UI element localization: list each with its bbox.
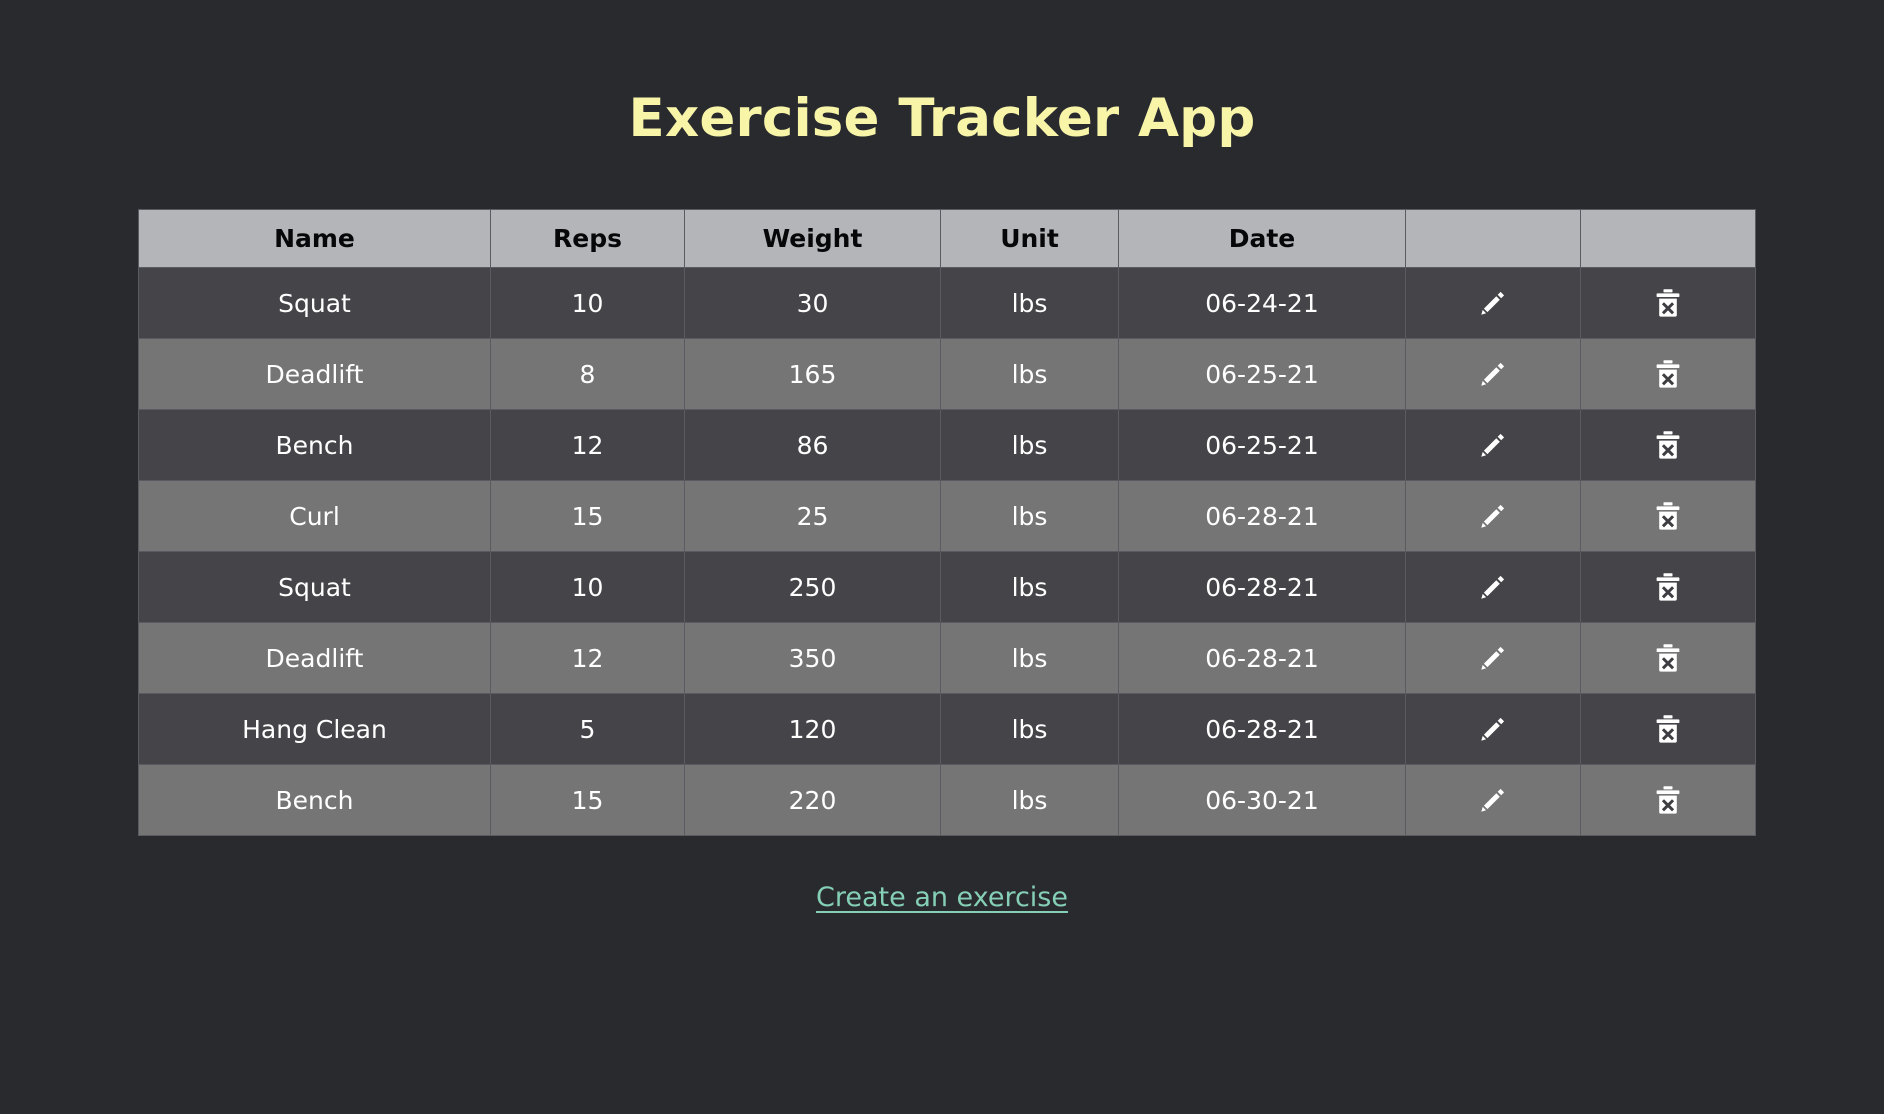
- table-row[interactable]: Squat 10 30 lbs 06-24-21: [139, 268, 1756, 339]
- pencil-icon[interactable]: [1476, 499, 1510, 533]
- exercise-table-container: Name Reps Weight Unit Date Squat 10 30 l…: [138, 209, 1755, 836]
- exercise-table: Name Reps Weight Unit Date Squat 10 30 l…: [138, 209, 1756, 836]
- footer-actions: Create an exercise: [0, 882, 1884, 913]
- column-header-delete: [1581, 210, 1756, 268]
- table-header-row: Name Reps Weight Unit Date: [139, 210, 1756, 268]
- column-header-date[interactable]: Date: [1119, 210, 1406, 268]
- pencil-icon[interactable]: [1476, 286, 1510, 320]
- trash-x-icon[interactable]: [1651, 286, 1685, 320]
- pencil-icon[interactable]: [1476, 570, 1510, 604]
- cell-date: 06-28-21: [1119, 552, 1406, 623]
- table-body: Squat 10 30 lbs 06-24-21: [139, 268, 1756, 836]
- cell-edit[interactable]: [1406, 268, 1581, 339]
- cell-unit: lbs: [941, 481, 1119, 552]
- cell-name: Bench: [139, 765, 491, 836]
- cell-weight: 86: [685, 410, 941, 481]
- cell-delete[interactable]: [1581, 694, 1756, 765]
- cell-edit[interactable]: [1406, 552, 1581, 623]
- cell-date: 06-25-21: [1119, 339, 1406, 410]
- cell-weight: 30: [685, 268, 941, 339]
- cell-delete[interactable]: [1581, 268, 1756, 339]
- cell-edit[interactable]: [1406, 481, 1581, 552]
- table-row[interactable]: Bench 12 86 lbs 06-25-21: [139, 410, 1756, 481]
- cell-weight: 25: [685, 481, 941, 552]
- cell-date: 06-28-21: [1119, 623, 1406, 694]
- cell-unit: lbs: [941, 268, 1119, 339]
- cell-reps: 8: [491, 339, 685, 410]
- cell-weight: 120: [685, 694, 941, 765]
- cell-delete[interactable]: [1581, 481, 1756, 552]
- cell-delete[interactable]: [1581, 410, 1756, 481]
- cell-date: 06-25-21: [1119, 410, 1406, 481]
- cell-unit: lbs: [941, 694, 1119, 765]
- cell-name: Hang Clean: [139, 694, 491, 765]
- cell-reps: 5: [491, 694, 685, 765]
- cell-delete[interactable]: [1581, 339, 1756, 410]
- cell-weight: 165: [685, 339, 941, 410]
- cell-reps: 10: [491, 268, 685, 339]
- trash-x-icon[interactable]: [1651, 570, 1685, 604]
- cell-name: Curl: [139, 481, 491, 552]
- cell-delete[interactable]: [1581, 623, 1756, 694]
- cell-date: 06-24-21: [1119, 268, 1406, 339]
- column-header-name[interactable]: Name: [139, 210, 491, 268]
- cell-reps: 12: [491, 623, 685, 694]
- column-header-edit: [1406, 210, 1581, 268]
- column-header-weight[interactable]: Weight: [685, 210, 941, 268]
- pencil-icon[interactable]: [1476, 712, 1510, 746]
- cell-name: Squat: [139, 268, 491, 339]
- table-row[interactable]: Deadlift 8 165 lbs 06-25-21: [139, 339, 1756, 410]
- pencil-icon[interactable]: [1476, 783, 1510, 817]
- page-title: Exercise Tracker App: [0, 90, 1884, 148]
- cell-unit: lbs: [941, 623, 1119, 694]
- cell-date: 06-28-21: [1119, 481, 1406, 552]
- table-row[interactable]: Deadlift 12 350 lbs 06-28-21: [139, 623, 1756, 694]
- app-root: Exercise Tracker App Name Reps Weight Un…: [0, 0, 1884, 1114]
- table-row[interactable]: Squat 10 250 lbs 06-28-21: [139, 552, 1756, 623]
- column-header-reps[interactable]: Reps: [491, 210, 685, 268]
- cell-edit[interactable]: [1406, 339, 1581, 410]
- table-row[interactable]: Bench 15 220 lbs 06-30-21: [139, 765, 1756, 836]
- trash-x-icon[interactable]: [1651, 641, 1685, 675]
- trash-x-icon[interactable]: [1651, 783, 1685, 817]
- cell-name: Bench: [139, 410, 491, 481]
- cell-edit[interactable]: [1406, 623, 1581, 694]
- cell-reps: 12: [491, 410, 685, 481]
- cell-weight: 350: [685, 623, 941, 694]
- cell-date: 06-28-21: [1119, 694, 1406, 765]
- trash-x-icon[interactable]: [1651, 428, 1685, 462]
- table-header: Name Reps Weight Unit Date: [139, 210, 1756, 268]
- pencil-icon[interactable]: [1476, 428, 1510, 462]
- cell-name: Deadlift: [139, 623, 491, 694]
- column-header-unit[interactable]: Unit: [941, 210, 1119, 268]
- create-exercise-link[interactable]: Create an exercise: [816, 882, 1068, 913]
- pencil-icon[interactable]: [1476, 641, 1510, 675]
- cell-delete[interactable]: [1581, 765, 1756, 836]
- cell-reps: 15: [491, 481, 685, 552]
- cell-unit: lbs: [941, 552, 1119, 623]
- cell-reps: 15: [491, 765, 685, 836]
- pencil-icon[interactable]: [1476, 357, 1510, 391]
- trash-x-icon[interactable]: [1651, 712, 1685, 746]
- cell-unit: lbs: [941, 765, 1119, 836]
- table-row[interactable]: Hang Clean 5 120 lbs 06-28-21: [139, 694, 1756, 765]
- cell-name: Deadlift: [139, 339, 491, 410]
- trash-x-icon[interactable]: [1651, 499, 1685, 533]
- cell-edit[interactable]: [1406, 694, 1581, 765]
- cell-name: Squat: [139, 552, 491, 623]
- cell-unit: lbs: [941, 339, 1119, 410]
- trash-x-icon[interactable]: [1651, 357, 1685, 391]
- cell-edit[interactable]: [1406, 410, 1581, 481]
- cell-delete[interactable]: [1581, 552, 1756, 623]
- cell-date: 06-30-21: [1119, 765, 1406, 836]
- table-row[interactable]: Curl 15 25 lbs 06-28-21: [139, 481, 1756, 552]
- cell-reps: 10: [491, 552, 685, 623]
- cell-unit: lbs: [941, 410, 1119, 481]
- cell-weight: 250: [685, 552, 941, 623]
- cell-edit[interactable]: [1406, 765, 1581, 836]
- cell-weight: 220: [685, 765, 941, 836]
